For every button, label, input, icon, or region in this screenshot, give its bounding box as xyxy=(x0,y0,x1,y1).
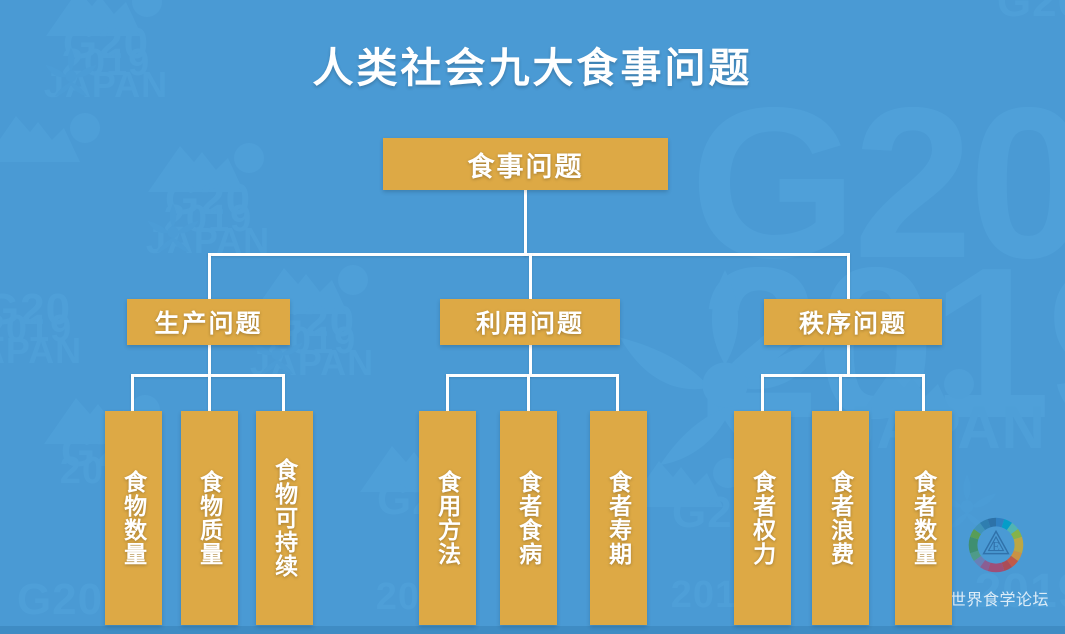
watermark-g20-text: G20 xyxy=(960,0,1065,22)
connector-branch-1-drop xyxy=(529,253,532,301)
cherry-blossom-watermark-icon xyxy=(142,200,204,262)
connector-leaf-2-drop xyxy=(282,374,285,412)
watermark-japan-text: JAPAN xyxy=(0,334,100,367)
connector-leaf-7-drop xyxy=(839,374,842,412)
node-leaf-eater-waste[interactable]: 食者浪费 xyxy=(812,411,869,625)
watermark-year-text: 2019 xyxy=(0,312,108,347)
connector-branch-0-drop xyxy=(208,253,211,301)
mount-fuji-watermark-icon xyxy=(146,140,266,194)
connector-branch-2-stem xyxy=(847,345,850,376)
brand-block: E 世界食学论坛 xyxy=(955,512,1065,622)
connector-branch-1-bus xyxy=(446,374,618,377)
node-leaf-eater-lifespan[interactable]: 食者寿期 xyxy=(590,411,647,625)
node-leaf-eater-illness[interactable]: 食者食病 xyxy=(500,411,557,625)
node-root[interactable]: 食事问题 xyxy=(383,138,668,190)
connector-branch-2-bus xyxy=(761,374,923,377)
watermark-year-text: 2019 xyxy=(128,202,288,237)
connector-leaf-6-drop xyxy=(761,374,764,412)
connector-leaf-0-drop xyxy=(131,374,134,412)
node-leaf-food-quality[interactable]: 食物质量 xyxy=(181,411,238,625)
connector-leaf-5-drop xyxy=(616,374,619,412)
node-leaf-food-sustainability[interactable]: 食物可持续 xyxy=(256,411,313,625)
connector-branch-0-stem xyxy=(208,345,211,376)
connector-leaf-4-drop xyxy=(527,374,530,412)
mount-fuji-watermark-icon xyxy=(44,0,164,38)
brand-name: 世界食学论坛 xyxy=(950,586,1065,610)
watermark-g20-text: G20 xyxy=(128,180,288,220)
node-leaf-eater-population[interactable]: 食者数量 xyxy=(895,411,952,625)
svg-text:E: E xyxy=(992,540,1000,554)
node-branch-order[interactable]: 秩序问题 xyxy=(764,299,942,345)
node-branch-utilization[interactable]: 利用问题 xyxy=(440,299,620,345)
mount-fuji-watermark-icon xyxy=(0,110,102,164)
connector-branch-2-drop xyxy=(847,253,850,301)
node-branch-production[interactable]: 生产问题 xyxy=(127,299,290,345)
node-leaf-food-quantity[interactable]: 食物数量 xyxy=(105,411,162,625)
connector-branch-1-stem xyxy=(529,345,532,376)
connector-leaf-1-drop xyxy=(208,374,211,412)
connector-leaf-3-drop xyxy=(446,374,449,412)
bottom-accent-strip xyxy=(0,626,1065,634)
node-leaf-eating-methods[interactable]: 食用方法 xyxy=(419,411,476,625)
slide-canvas: G20 2019 G20 2019 JAPAN xyxy=(0,0,1065,634)
watermark-g20-text: G20 xyxy=(0,290,108,330)
page-title: 人类社会九大食事问题 xyxy=(0,34,1065,94)
connector-leaf-8-drop xyxy=(922,374,925,412)
connector-root-stem xyxy=(524,190,527,256)
node-leaf-eater-rights[interactable]: 食者权力 xyxy=(734,411,791,625)
sdg-wheel-icon: E xyxy=(965,514,1027,576)
watermark-big-g20: G20 xyxy=(690,95,1065,271)
